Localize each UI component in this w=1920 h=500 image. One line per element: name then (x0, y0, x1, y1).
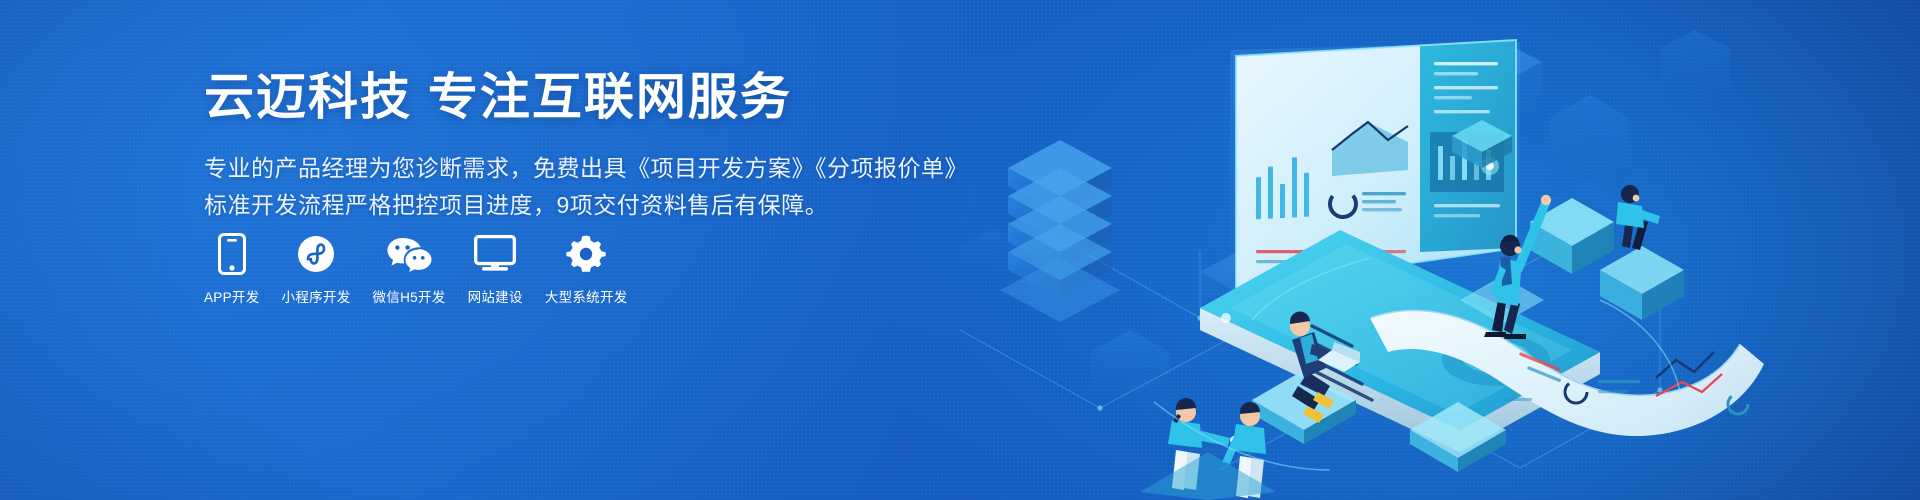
grid-nodes (1097, 287, 1662, 410)
service-label: APP开发 (204, 290, 260, 306)
service-item-mini-program[interactable]: 小程序开发 (282, 232, 351, 306)
screen-donut-gauge (1325, 186, 1406, 223)
screen-table-rows (1256, 250, 1406, 278)
standing-figure (1484, 195, 1551, 339)
wechat-icon (386, 232, 432, 276)
pedestal-blocks (1460, 198, 1684, 324)
data-sheet-scroll (1370, 310, 1764, 436)
connector-curves (1154, 258, 1680, 470)
subtitle-line-1: 专业的产品经理为您诊断需求，免费出具《项目开发方案》《分项报价单》 (204, 150, 924, 187)
hero-subtitle: 专业的产品经理为您诊断需求，免费出具《项目开发方案》《分项报价单》 标准开发流程… (204, 150, 924, 224)
screen-bar-chart (1256, 157, 1309, 219)
isometric-tech-dashboard-illustration (900, 0, 1920, 500)
service-label: 网站建设 (468, 290, 523, 306)
gear-icon (566, 232, 606, 276)
screen-right-panel-rows (1430, 62, 1504, 217)
service-item-large-system[interactable]: 大型系统开发 (545, 232, 628, 306)
mini-program-icon (297, 232, 335, 276)
sitting-figure-laptop (1290, 311, 1360, 423)
service-item-website[interactable]: 网站建设 (468, 232, 523, 306)
standing-panel-left (1252, 370, 1356, 444)
tablet-platform (1200, 230, 1600, 452)
figure-on-podium (1616, 185, 1660, 250)
service-item-app[interactable]: APP开发 (204, 232, 260, 306)
subtitle-line-2: 标准开发流程严格把控项目进度，9项交付资料售后有保障。 (204, 187, 924, 224)
service-item-wechat-h5[interactable]: 微信H5开发 (373, 232, 446, 306)
dashboard-screen (1230, 40, 1520, 290)
wireframe-grid-lines (960, 225, 1660, 470)
building-silhouettes (960, 30, 1730, 470)
service-list: APP开发 小程序开发 微信 (204, 232, 628, 306)
mobile-phone-icon (218, 232, 246, 276)
service-label: 小程序开发 (282, 290, 351, 306)
service-label: 大型系统开发 (545, 290, 628, 306)
hero-banner: 云迈科技 专注互联网服务 专业的产品经理为您诊断需求，免费出具《项目开发方案》《… (0, 0, 1920, 500)
server-stack (1000, 140, 1120, 322)
service-label: 微信H5开发 (373, 290, 446, 306)
floating-cube-small (1452, 120, 1512, 168)
page-title: 云迈科技 专注互联网服务 (204, 66, 924, 128)
screen-line-chart (1332, 122, 1408, 176)
figure-pair (1140, 398, 1276, 500)
hero-text-block: 云迈科技 专注互联网服务 专业的产品经理为您诊断需求，免费出具《项目开发方案》《… (204, 66, 924, 224)
standing-panel-right (1410, 402, 1506, 472)
monitor-icon (474, 232, 516, 276)
